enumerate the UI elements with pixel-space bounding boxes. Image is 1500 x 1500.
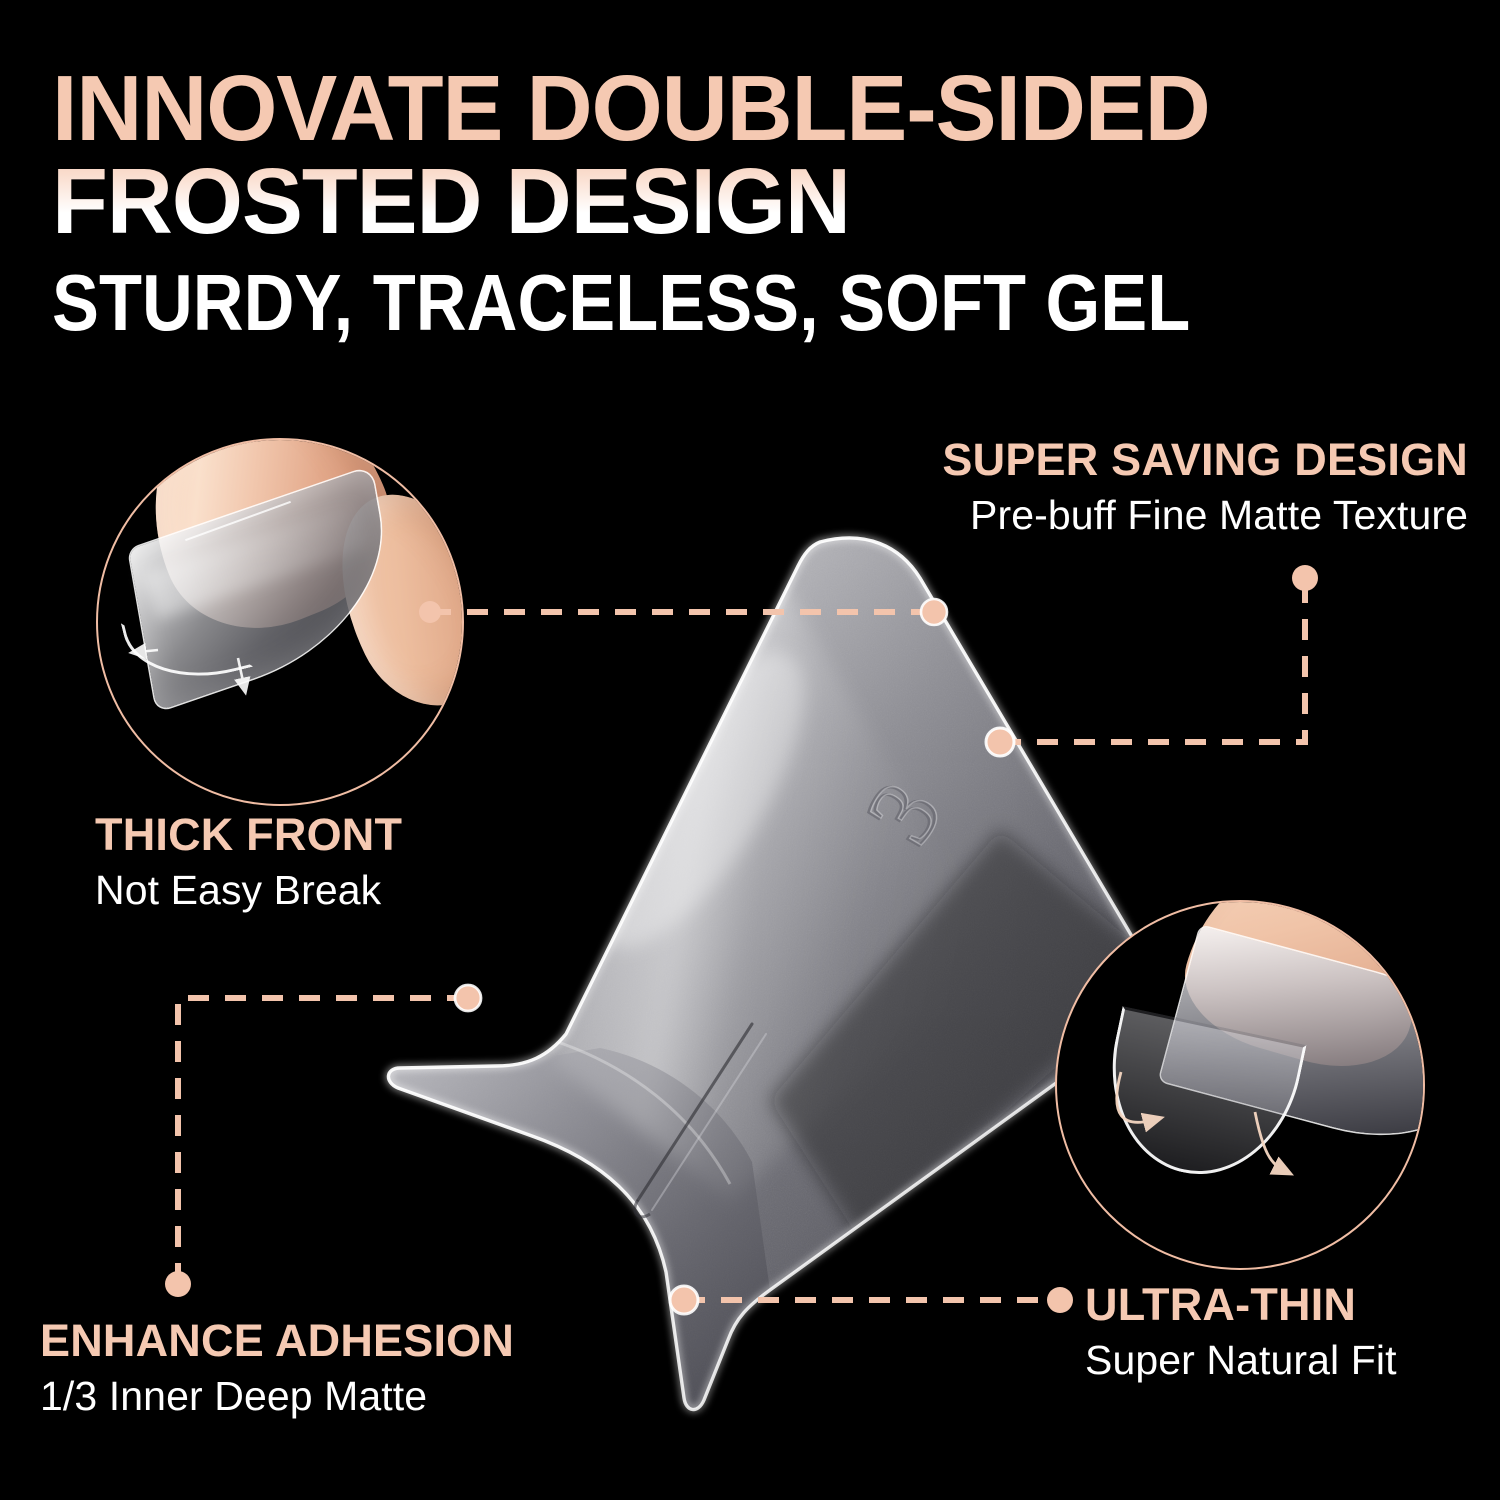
headline-line-2: FROSTED DESIGN <box>52 154 1451 249</box>
callout-super-saving-design: SUPER SAVING DESIGN Pre-buff Fine Matte … <box>942 437 1468 538</box>
infographic-canvas: 3 3 <box>0 0 1500 1500</box>
thick-front-inset <box>96 438 464 806</box>
headline-block: INNOVATE DOUBLE-SIDED FROSTED DESIGN STU… <box>52 62 1472 343</box>
callout-subtitle: 1/3 Inner Deep Matte <box>40 1374 514 1419</box>
dot-enhance-adhesion <box>165 1271 191 1297</box>
callout-enhance-adhesion: ENHANCE ADHESION 1/3 Inner Deep Matte <box>40 1318 514 1419</box>
callout-ultra-thin: ULTRA-THIN Super Natural Fit <box>1085 1282 1397 1383</box>
dot-super-saving <box>1292 565 1318 591</box>
callout-subtitle: Super Natural Fit <box>1085 1338 1397 1383</box>
ultra-thin-inset <box>1055 900 1425 1270</box>
callout-title: THICK FRONT <box>95 812 402 859</box>
callout-title: SUPER SAVING DESIGN <box>942 437 1468 484</box>
callout-thick-front: THICK FRONT Not Easy Break <box>95 812 402 913</box>
ultra-thin-arrows <box>1057 902 1425 1270</box>
callout-title: ULTRA-THIN <box>1085 1282 1397 1329</box>
callout-subtitle: Not Easy Break <box>95 868 402 913</box>
headline-line-1: INNOVATE DOUBLE-SIDED <box>52 62 1451 154</box>
callout-title: ENHANCE ADHESION <box>40 1318 514 1365</box>
headline-line-3: STURDY, TRACELESS, SOFT GEL <box>52 263 1302 343</box>
callout-subtitle: Pre-buff Fine Matte Texture <box>942 493 1468 538</box>
thick-front-arrows <box>98 440 464 806</box>
